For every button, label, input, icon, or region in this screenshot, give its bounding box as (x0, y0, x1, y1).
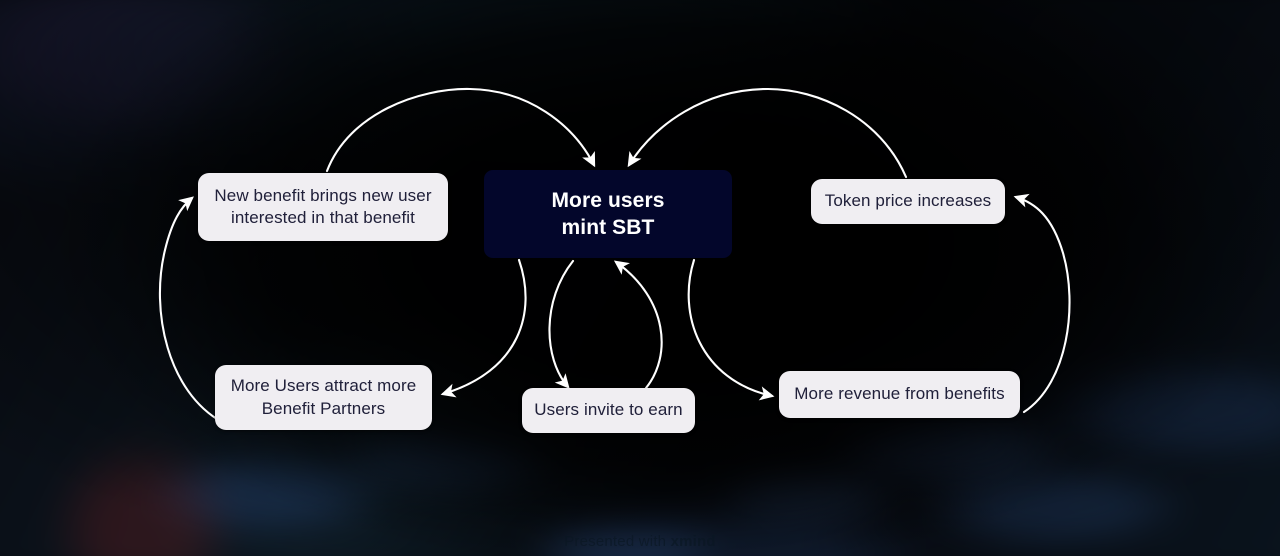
xmind-watermark: Presented with xmind (0, 533, 1280, 550)
node-more-revenue-from-benefits[interactable]: More revenue from benefits (779, 371, 1020, 418)
node-token-price-increases[interactable]: Token price increases (811, 179, 1005, 224)
connector-layer (0, 0, 1280, 556)
edge-new-benefit-to-center (327, 89, 594, 171)
edge-center-to-users-invite (549, 261, 573, 387)
mindmap-canvas[interactable]: New benefit brings new user interested i… (0, 0, 1280, 556)
edge-center-to-benefit-partners (443, 260, 526, 394)
watermark-prefix: Presented with (564, 533, 670, 550)
watermark-brand: xmind (671, 533, 716, 550)
node-more-users-mint-sbt[interactable]: More users mint SBT (484, 170, 732, 258)
edge-center-to-more-revenue (689, 260, 772, 396)
edge-token-price-to-center (629, 89, 906, 177)
node-more-users-attract-more-benefit-partners[interactable]: More Users attract more Benefit Partners (215, 365, 432, 430)
edge-users-invite-to-center (616, 262, 662, 388)
edge-more-revenue-to-token-price (1016, 197, 1070, 412)
node-new-benefit-brings-new-user[interactable]: New benefit brings new user interested i… (198, 173, 448, 241)
node-users-invite-to-earn[interactable]: Users invite to earn (522, 388, 695, 433)
